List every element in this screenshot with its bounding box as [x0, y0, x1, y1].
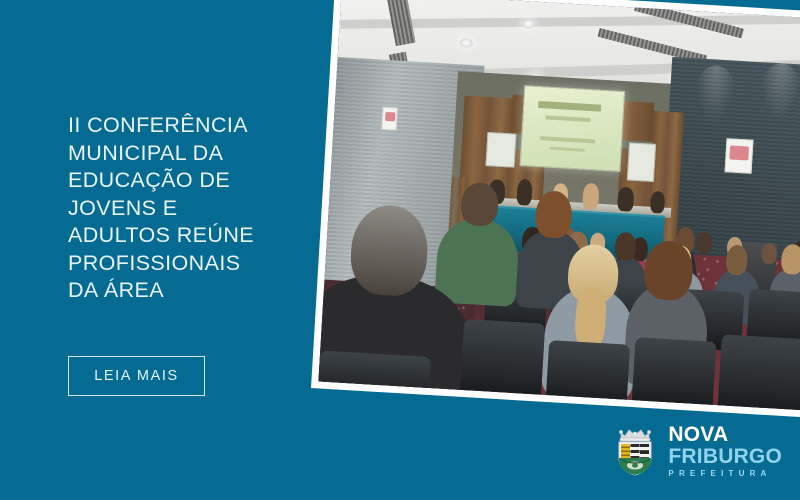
ceiling-light	[522, 19, 536, 29]
article-photo-frame	[311, 0, 800, 419]
audience-head	[696, 231, 712, 253]
news-banner: II CONFERÊNCIA MUNICIPAL DA EDUCAÇÃO DE …	[0, 0, 800, 500]
audience-head	[615, 232, 637, 261]
logo-line-friburgo: FRIBURGO	[668, 446, 782, 467]
slide-line	[540, 136, 595, 143]
projection-screen	[520, 85, 625, 171]
seat	[545, 340, 630, 407]
wall-light-glow	[758, 62, 800, 124]
seat	[459, 319, 544, 402]
read-more-button[interactable]: LEIA MAIS	[68, 356, 205, 396]
coat-of-arms-icon	[611, 425, 659, 477]
prefeitura-logo[interactable]: NOVA FRIBURGO PREFEITURA	[611, 424, 782, 478]
panelist	[582, 183, 600, 209]
slide-line	[549, 147, 585, 152]
seat	[318, 350, 431, 404]
logo-line-prefeitura: PREFEITURA	[668, 470, 782, 478]
wall-light-glow	[692, 64, 737, 126]
seat	[631, 337, 716, 411]
wall-sign	[381, 106, 398, 130]
auditorium-photo	[318, 0, 800, 411]
panelist	[617, 187, 634, 211]
audience-head	[725, 245, 748, 276]
audience-head	[781, 244, 800, 275]
slide-line	[538, 101, 601, 111]
logo-wordmark: NOVA FRIBURGO PREFEITURA	[668, 424, 782, 478]
sign-graphic	[729, 145, 749, 160]
sign-graphic	[385, 111, 396, 121]
wall-sign	[724, 139, 753, 174]
logo-line-nova: NOVA	[668, 424, 782, 445]
seat	[717, 335, 800, 412]
side-display	[627, 143, 656, 182]
audience-head	[535, 190, 573, 239]
slide-line	[545, 116, 591, 123]
text-column: II CONFERÊNCIA MUNICIPAL DA EDUCAÇÃO DE …	[0, 0, 320, 500]
page-title: II CONFERÊNCIA MUNICIPAL DA EDUCAÇÃO DE …	[68, 112, 303, 305]
side-display	[486, 132, 516, 167]
